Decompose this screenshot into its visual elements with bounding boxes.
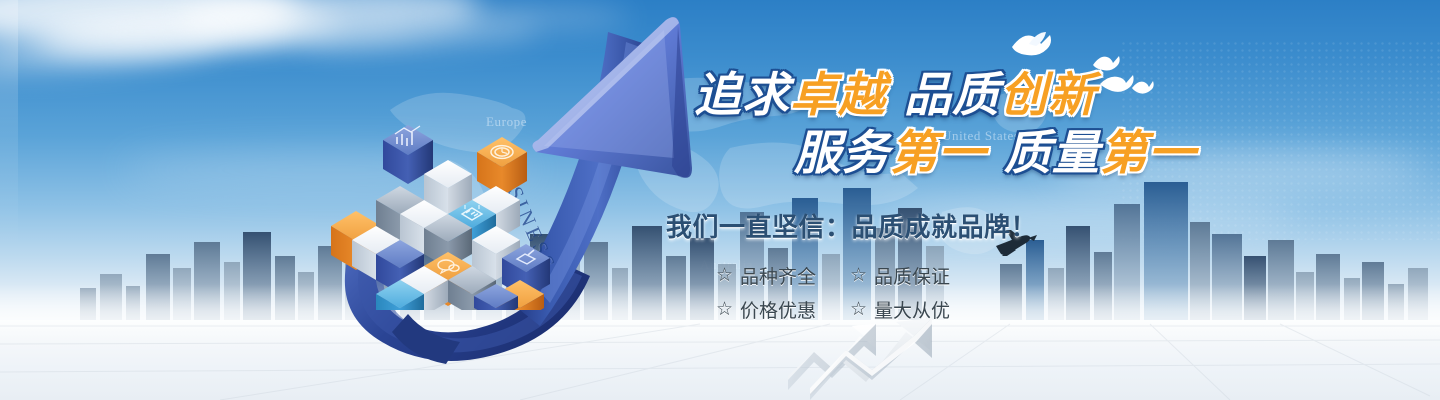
- cloud-decoration: [39, 0, 341, 62]
- feature-item: ☆ 品种齐全: [716, 262, 844, 289]
- cloud-decoration: [179, 0, 482, 50]
- headline-segment: 创新: [1000, 68, 1096, 123]
- headline-segment: 服务: [794, 126, 890, 181]
- dove-icon: [1008, 30, 1054, 60]
- star-outline-icon: ☆: [716, 266, 733, 285]
- cloud-decoration: [120, 150, 540, 190]
- feature-list: ☆ 品种齐全 ☆ 品质保证 ☆ 价格优惠 ☆ 量大从优: [716, 262, 1220, 323]
- feature-label: 品质保证: [874, 262, 950, 289]
- feature-item: ☆ 量大从优: [850, 296, 978, 323]
- cloud-decoration: [430, 6, 630, 28]
- headline-line-2: 服务第一质量第一: [794, 130, 1220, 177]
- rubik-cube-graphic: [330, 100, 580, 310]
- headline-segment: 第一: [1100, 126, 1196, 181]
- cloud-decoration: [299, 16, 540, 55]
- feature-item: ☆ 价格优惠: [716, 296, 844, 323]
- star-outline-icon: ☆: [850, 266, 867, 285]
- cloud-decoration: [0, 23, 221, 79]
- feature-label: 量大从优: [874, 296, 950, 323]
- headline-segment: 质量: [1004, 126, 1100, 181]
- headline-segment: 第一: [890, 126, 986, 181]
- headline-segment: 品质: [904, 68, 1000, 123]
- headline-segment: 追求: [694, 68, 790, 123]
- headline-segment: 卓越: [790, 68, 886, 123]
- banner-copy: 追求卓越品质创新 服务第一质量第一 我们一直坚信：品质成就品牌！ ☆ 品种齐全 …: [660, 72, 1220, 323]
- headline-line-1: 追求卓越品质创新: [694, 72, 1220, 119]
- europe-label: Europe: [486, 114, 527, 130]
- subtitle-text: 我们一直坚信：品质成就品牌！: [666, 207, 1220, 244]
- star-outline-icon: ☆: [850, 300, 867, 319]
- business-banner: Europe United States China Australia: [0, 0, 1440, 400]
- cloud-decoration: [0, 0, 300, 48]
- star-outline-icon: ☆: [716, 300, 733, 319]
- feature-label: 价格优惠: [740, 296, 816, 323]
- left-edge-highlight: [0, 0, 18, 250]
- feature-label: 品种齐全: [740, 262, 816, 289]
- floor-perspective-lines: [0, 320, 1440, 400]
- feature-item: ☆ 品质保证: [850, 262, 978, 289]
- business-arrow-label: BUSINESS: [487, 150, 561, 276]
